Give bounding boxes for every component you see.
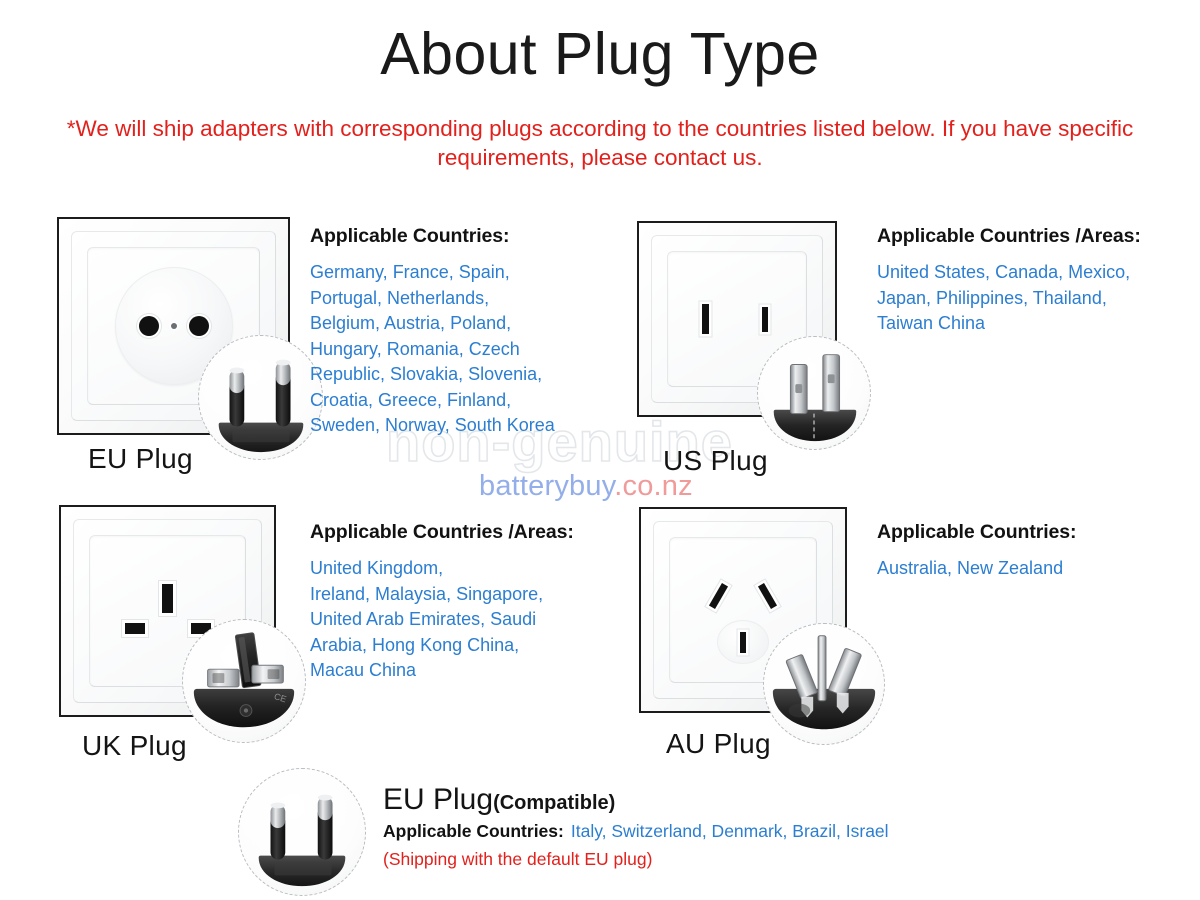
country-line: Japan, Philippines, Thailand,: [877, 286, 1177, 312]
au-countries-list: Australia, New Zealand: [877, 556, 1177, 582]
country-line: Australia, New Zealand: [877, 556, 1177, 582]
eu-plug-photo-icon: [198, 335, 323, 460]
country-line: United Kingdom,: [310, 556, 610, 582]
uk-countries-block: Applicable Countries /Areas: United King…: [310, 521, 610, 684]
au-slot-earth: [740, 632, 746, 653]
watermark-url: batterybuy.co.nz: [479, 470, 693, 503]
country-line: Republic, Slovakia, Slovenia,: [310, 362, 600, 388]
page-title: About Plug Type: [0, 24, 1200, 86]
uk-countries-list: United Kingdom, Ireland, Malaysia, Singa…: [310, 556, 610, 684]
country-line: Ireland, Malaysia, Singapore,: [310, 582, 610, 608]
country-line: United States, Canada, Mexico,: [877, 260, 1177, 286]
uk-countries-heading: Applicable Countries /Areas:: [310, 521, 610, 544]
country-line: Portugal, Netherlands,: [310, 286, 600, 312]
country-line: Croatia, Greece, Finland,: [310, 388, 600, 414]
eu-center-dot-icon: [171, 323, 177, 329]
eu-compatible-heading: Applicable Countries:: [383, 821, 564, 841]
us-plug-caption: US Plug: [663, 445, 768, 477]
au-plug-photo-icon: [763, 623, 885, 745]
country-line: Germany, France, Spain,: [310, 260, 600, 286]
country-line: Taiwan China: [877, 311, 1177, 337]
uk-slot-neutral: [125, 623, 145, 634]
eu-compatible-plug-photo-icon: [238, 768, 366, 896]
country-line: Macau China: [310, 658, 610, 684]
watermark-url-primary: batterybuy: [479, 470, 614, 502]
au-slot-active: [709, 583, 728, 609]
uk-plug-caption: UK Plug: [82, 730, 187, 762]
eu-compatible-title-suffix: (Compatible): [493, 792, 615, 814]
au-slot-neutral: [758, 583, 777, 609]
au-earth-recess: [717, 620, 769, 664]
eu-compatible-title: EU Plug(Compatible): [383, 783, 615, 817]
eu-compatible-countries: Italy, Switzerland, Denmark, Brazil, Isr…: [571, 821, 889, 841]
au-plug-caption: AU Plug: [666, 728, 771, 760]
au-countries-block: Applicable Countries: Australia, New Zea…: [877, 521, 1177, 582]
country-line: Belgium, Austria, Poland,: [310, 311, 600, 337]
eu-countries-block: Applicable Countries: Germany, France, S…: [310, 225, 600, 439]
us-plug-photo-icon: [757, 336, 871, 450]
country-line: Hungary, Romania, Czech: [310, 337, 600, 363]
au-countries-heading: Applicable Countries:: [877, 521, 1177, 544]
eu-compatible-shipping-note: (Shipping with the default EU plug): [383, 849, 652, 870]
eu-compatible-countries-line: Applicable Countries:Italy, Switzerland,…: [383, 821, 889, 842]
plug-type-infographic: About Plug Type *We will ship adapters w…: [0, 0, 1200, 900]
country-line: Sweden, Norway, South Korea: [310, 413, 600, 439]
us-slot-live: [762, 307, 768, 332]
eu-pin-hole-right: [189, 316, 209, 336]
uk-slot-earth: [162, 584, 173, 613]
us-countries-block: Applicable Countries /Areas: United Stat…: [877, 225, 1177, 337]
uk-plug-photo-icon: CE: [182, 619, 306, 743]
shipping-notice: *We will ship adapters with correspondin…: [60, 114, 1140, 172]
us-slot-neutral: [702, 304, 709, 334]
eu-countries-list: Germany, France, Spain, Portugal, Nether…: [310, 260, 600, 439]
us-countries-list: United States, Canada, Mexico, Japan, Ph…: [877, 260, 1177, 337]
eu-countries-heading: Applicable Countries:: [310, 225, 600, 248]
eu-pin-hole-left: [139, 316, 159, 336]
eu-plug-caption: EU Plug: [88, 443, 193, 475]
country-line: Arabia, Hong Kong China,: [310, 633, 610, 659]
us-countries-heading: Applicable Countries /Areas:: [877, 225, 1177, 248]
eu-compatible-title-main: EU Plug: [383, 783, 493, 816]
country-line: United Arab Emirates, Saudi: [310, 607, 610, 633]
